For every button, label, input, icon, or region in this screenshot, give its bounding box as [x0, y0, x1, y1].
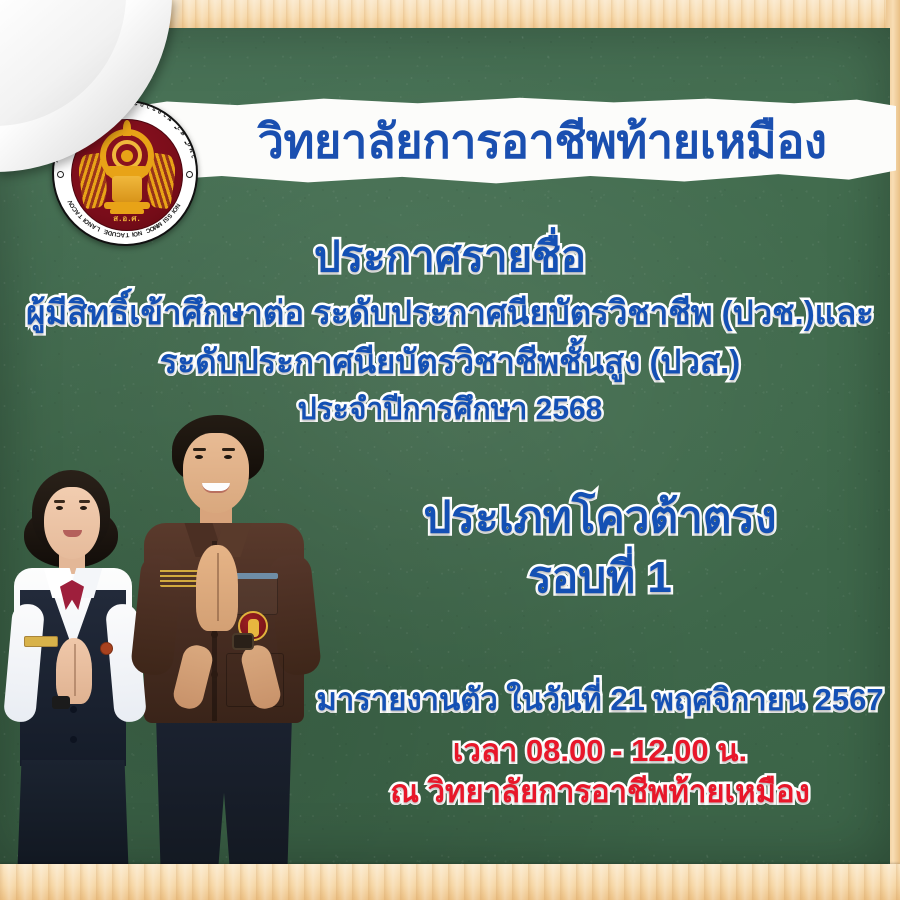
male-eye-left — [195, 455, 203, 459]
female-name-badge — [24, 636, 58, 647]
female-school-pin-icon — [100, 642, 113, 655]
female-eyebrow-left — [54, 500, 65, 503]
male-student-figure — [134, 415, 314, 900]
wood-frame-bottom — [0, 864, 900, 900]
students-photo — [0, 415, 324, 900]
male-face — [183, 433, 249, 513]
female-student-figure — [0, 470, 150, 900]
female-vest-button — [70, 706, 77, 713]
female-wai-hands — [56, 638, 92, 704]
college-name-title: วิทยาลัยการอาชีพท้ายเหมือง — [112, 118, 896, 165]
seal-throne-base-icon — [104, 202, 150, 209]
page-peel-corner — [0, 0, 186, 186]
seal-dot-right-icon — [186, 171, 193, 178]
female-eye-left — [56, 506, 63, 510]
seal-abbreviation: ส.อ.ศ. — [72, 212, 182, 225]
header-banner: วิทยาลัยการอาชีพท้ายเหมือง — [112, 95, 896, 187]
male-shirt-button — [211, 671, 218, 678]
female-wristwatch-icon — [52, 696, 70, 709]
announcement-line-1: ผู้มีสิทธิ์เข้าศึกษาต่อ ระดับประกาศนียบั… — [0, 294, 900, 333]
male-eyebrow-left — [193, 448, 206, 451]
female-vest-button — [70, 736, 77, 743]
male-wristwatch-icon — [232, 633, 254, 650]
male-shirt-button — [211, 631, 218, 638]
female-eye-right — [80, 506, 87, 510]
female-face — [44, 487, 100, 559]
male-eye-right — [224, 455, 232, 459]
male-wai-hands — [196, 545, 238, 631]
male-eyebrow-right — [222, 448, 235, 451]
announcement-poster: วิทยาลัยการอาชีพท้ายเหมือง สำนักงานคณะกร… — [0, 0, 900, 900]
announcement-line-2: ระดับประกาศนียบัตรวิชาชีพชั้นสูง (ปวส.) — [0, 343, 900, 382]
female-eyebrow-right — [79, 500, 90, 503]
announcement-heading: ประกาศรายชื่อ — [0, 232, 900, 282]
